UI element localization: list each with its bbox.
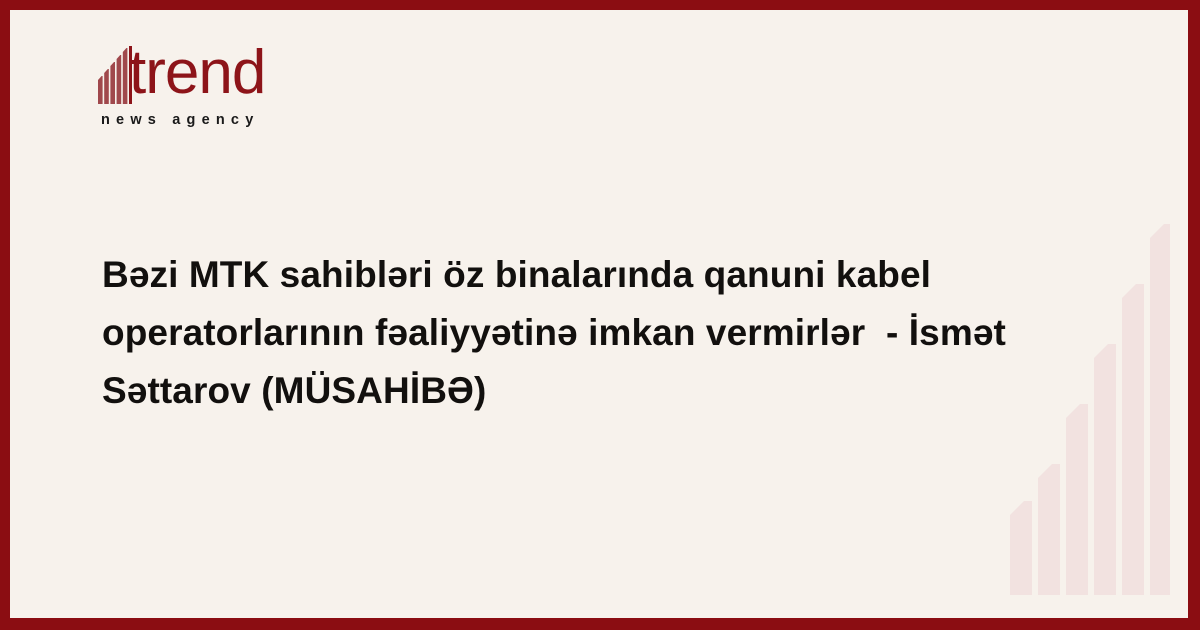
trend-news-agency-logo[interactable]: trend news agency [98,44,348,128]
deco-bar-6 [1150,224,1170,595]
logo-wordmark: trend [129,44,265,102]
page-title: Bəzi MTK sahibləri öz binalarında qanuni… [102,246,1032,420]
deco-bar-5 [1122,284,1144,595]
logo-mark: trend [98,44,348,106]
ascending-bars-icon [98,46,132,104]
deco-bar-4 [1094,344,1116,595]
ascending-bars-decoration [1010,165,1170,595]
logo-tagline: news agency [101,112,348,128]
deco-bar-1 [1010,501,1032,595]
deco-bar-2 [1038,464,1060,595]
social-share-card: trend news agency Bəzi MTK sahibləri öz … [0,0,1200,630]
deco-bar-3 [1066,404,1088,595]
